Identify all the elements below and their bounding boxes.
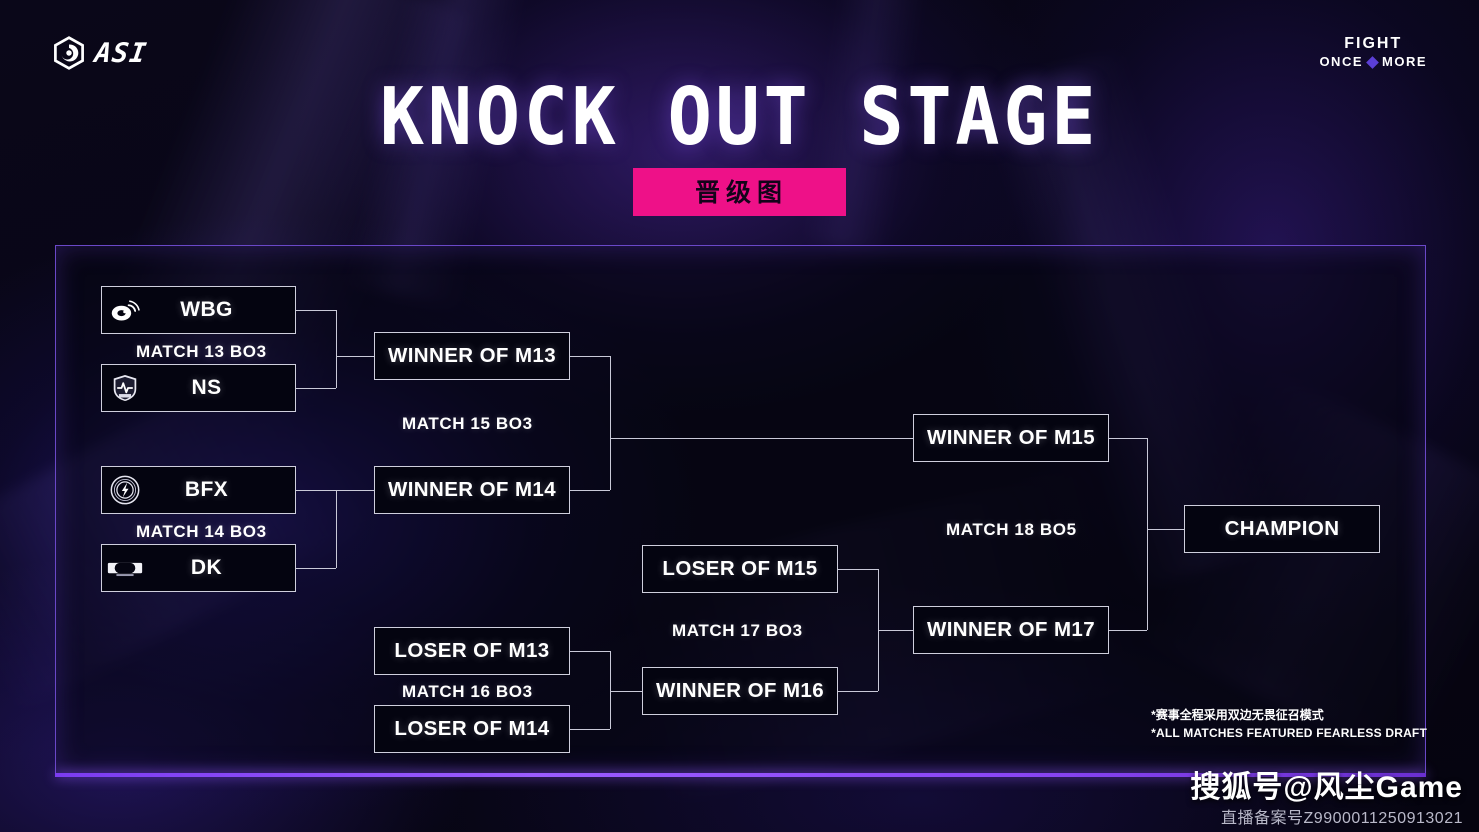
- connector: [1147, 529, 1184, 530]
- connector: [570, 651, 610, 652]
- asi-logo-text: ASI: [93, 38, 149, 69]
- connector: [336, 356, 374, 357]
- team-name: BFX: [148, 478, 295, 502]
- asi-swirl-hex-icon: [52, 36, 86, 70]
- slot-box-loser-m14[interactable]: LOSER OF M14: [374, 705, 570, 753]
- connector: [838, 569, 878, 570]
- bilibili-fearx-circle-logo: [102, 467, 148, 513]
- asi-logo: ASI: [52, 36, 147, 70]
- match-label-m14: MATCH 14 BO3: [136, 522, 267, 542]
- team-box-wbg[interactable]: WBG: [101, 286, 296, 334]
- team-box-bfx[interactable]: BFX: [101, 466, 296, 514]
- team-name: NS: [148, 376, 295, 400]
- slot-label: WINNER OF M16: [656, 679, 824, 703]
- match-label-m16: MATCH 16 BO3: [402, 682, 533, 702]
- tagline-once: ONCE: [1319, 54, 1363, 70]
- diamond-icon: [1366, 56, 1379, 69]
- slot-label: WINNER OF M13: [388, 344, 556, 368]
- connector: [570, 490, 610, 491]
- slot-box-loser-m15[interactable]: LOSER OF M15: [642, 545, 838, 593]
- page-title: KNOCK OUT STAGE: [52, 78, 1427, 157]
- dplus-kia-band-logo: [102, 545, 148, 591]
- team-box-dk[interactable]: DK: [101, 544, 296, 592]
- slot-box-loser-m13[interactable]: LOSER OF M13: [374, 627, 570, 675]
- slot-label: WINNER OF M15: [927, 426, 1095, 450]
- slot-label: LOSER OF M14: [394, 717, 549, 741]
- slot-box-winner-m15[interactable]: WINNER OF M15: [913, 414, 1109, 462]
- team-box-ns[interactable]: NS: [101, 364, 296, 412]
- ninjas-in-pyjamas-shield-logo: [102, 365, 148, 411]
- bracket-frame: WBG MATCH 13 BO3 NS BFX MATCH 14 BO3: [55, 245, 1426, 775]
- team-name: WBG: [148, 298, 295, 322]
- connector: [1147, 438, 1148, 630]
- connector: [838, 691, 878, 692]
- slot-label: WINNER OF M14: [388, 478, 556, 502]
- watermark-account: 搜狐号@风尘Game: [1190, 762, 1463, 806]
- match-label-m13: MATCH 13 BO3: [136, 342, 267, 362]
- slot-box-winner-m14[interactable]: WINNER OF M14: [374, 466, 570, 514]
- slot-box-champion[interactable]: CHAMPION: [1184, 505, 1380, 553]
- footnotes: *赛事全程采用双边无畏征召模式 *ALL MATCHES FEATURED FE…: [1151, 706, 1427, 742]
- match-label-m18: MATCH 18 BO5: [946, 520, 1077, 540]
- slot-label: CHAMPION: [1225, 517, 1340, 541]
- slot-label: LOSER OF M15: [662, 557, 817, 581]
- connector: [570, 729, 610, 730]
- connector: [610, 691, 642, 692]
- connector: [336, 310, 337, 388]
- watermark-license: 直播备案号Z9900011250913021: [1190, 804, 1463, 828]
- connector: [1109, 630, 1147, 631]
- tagline-more: MORE: [1382, 54, 1427, 70]
- connector: [336, 490, 337, 568]
- subtitle-banner: 晋级图: [633, 168, 846, 216]
- slot-label: LOSER OF M13: [394, 639, 549, 663]
- match-label-m15: MATCH 15 BO3: [402, 414, 533, 434]
- slot-box-winner-m16[interactable]: WINNER OF M16: [642, 667, 838, 715]
- connector: [610, 438, 913, 439]
- team-name: DK: [148, 556, 295, 580]
- connector: [610, 356, 611, 490]
- slot-box-winner-m17[interactable]: WINNER OF M17: [913, 606, 1109, 654]
- connector: [1109, 438, 1147, 439]
- connector: [878, 630, 913, 631]
- watermark: 搜狐号@风尘Game 直播备案号Z9900011250913021: [1190, 762, 1463, 828]
- connector: [336, 490, 374, 491]
- fight-once-more-tagline: FIGHT ONCE MORE: [1319, 34, 1427, 70]
- match-label-m17: MATCH 17 BO3: [672, 621, 803, 641]
- connector: [570, 356, 610, 357]
- connector: [296, 568, 336, 569]
- weibo-gaming-logo: [102, 287, 148, 333]
- footnote-cn: *赛事全程采用双边无畏征召模式: [1151, 706, 1427, 724]
- tagline-fight: FIGHT: [1319, 34, 1427, 54]
- slot-label: WINNER OF M17: [927, 618, 1095, 642]
- footnote-en: *ALL MATCHES FEATURED FEARLESS DRAFT: [1151, 724, 1427, 742]
- connector: [296, 310, 336, 311]
- connector: [610, 651, 611, 729]
- slot-box-winner-m13[interactable]: WINNER OF M13: [374, 332, 570, 380]
- connector: [296, 388, 336, 389]
- connector: [296, 490, 336, 491]
